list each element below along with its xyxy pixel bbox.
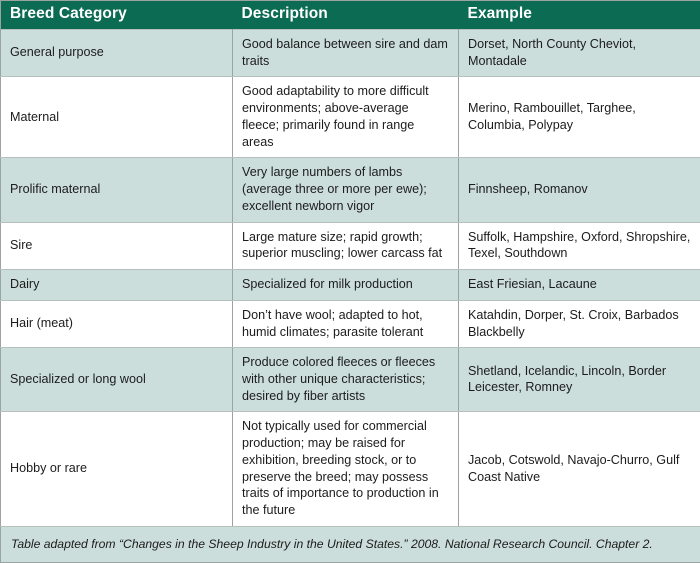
cell-description: Very large numbers of lambs (average thr…: [233, 158, 459, 222]
cell-breed-category: Specialized or long wool: [1, 348, 233, 412]
table-row: Prolific maternal Very large numbers of …: [1, 158, 700, 222]
cell-description: Large mature size; rapid growth; superio…: [233, 222, 459, 269]
table-footer: Table adapted from “Changes in the Sheep…: [1, 526, 700, 562]
table-row: Dairy Specialized for milk production Ea…: [1, 270, 700, 301]
table-header: Breed Category Description Example: [1, 1, 700, 30]
cell-description: Good adaptability to more difficult envi…: [233, 77, 459, 158]
table-row: Specialized or long wool Produce colored…: [1, 348, 700, 412]
table-row: Sire Large mature size; rapid growth; su…: [1, 222, 700, 269]
cell-breed-category: Dairy: [1, 270, 233, 301]
table-header-row: Breed Category Description Example: [1, 1, 700, 30]
cell-description: Good balance between sire and dam traits: [233, 30, 459, 77]
table-row: Maternal Good adaptability to more diffi…: [1, 77, 700, 158]
cell-breed-category: General purpose: [1, 30, 233, 77]
table-row: Hobby or rare Not typically used for com…: [1, 412, 700, 526]
cell-example: Suffolk, Hampshire, Oxford, Shropshire, …: [459, 222, 700, 269]
cell-description: Don’t have wool; adapted to hot, humid c…: [233, 300, 459, 347]
cell-example: East Friesian, Lacaune: [459, 270, 700, 301]
breed-category-table: Breed Category Description Example Gener…: [0, 0, 700, 563]
table-row: General purpose Good balance between sir…: [1, 30, 700, 77]
cell-breed-category: Hair (meat): [1, 300, 233, 347]
cell-breed-category: Maternal: [1, 77, 233, 158]
cell-breed-category: Prolific maternal: [1, 158, 233, 222]
column-header-description: Description: [233, 1, 459, 30]
cell-example: Katahdin, Dorper, St. Croix, Barbados Bl…: [459, 300, 700, 347]
column-header-example: Example: [459, 1, 700, 30]
column-header-breed-category: Breed Category: [1, 1, 233, 30]
table-footer-row: Table adapted from “Changes in the Sheep…: [1, 526, 700, 562]
cell-example: Finnsheep, Romanov: [459, 158, 700, 222]
table-row: Hair (meat) Don’t have wool; adapted to …: [1, 300, 700, 347]
table-source-note: Table adapted from “Changes in the Sheep…: [1, 526, 700, 562]
cell-example: Shetland, Icelandic, Lincoln, Border Lei…: [459, 348, 700, 412]
cell-example: Jacob, Cotswold, Navajo-Churro, Gulf Coa…: [459, 412, 700, 526]
cell-description: Produce colored fleeces or fleeces with …: [233, 348, 459, 412]
cell-example: Merino, Rambouillet, Targhee, Columbia, …: [459, 77, 700, 158]
breed-category-table-container: Breed Category Description Example Gener…: [0, 0, 700, 492]
cell-breed-category: Hobby or rare: [1, 412, 233, 526]
table-body: General purpose Good balance between sir…: [1, 30, 700, 527]
cell-description: Not typically used for commercial produc…: [233, 412, 459, 526]
cell-breed-category: Sire: [1, 222, 233, 269]
cell-description: Specialized for milk production: [233, 270, 459, 301]
cell-example: Dorset, North County Cheviot, Montadale: [459, 30, 700, 77]
